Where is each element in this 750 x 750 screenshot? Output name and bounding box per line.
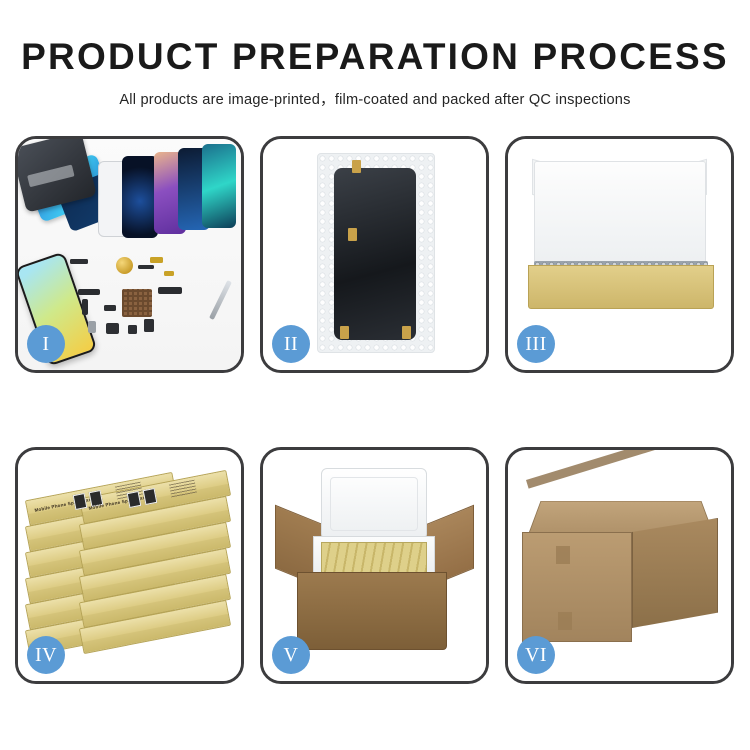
carton-tab [558, 612, 572, 630]
tape-tab [402, 326, 411, 339]
bubble-wrapped-screen-photo: II [263, 139, 486, 370]
speaker-part [106, 323, 119, 334]
bubble-wrap-bag [317, 153, 435, 353]
tape-tab [348, 228, 357, 241]
small-part [164, 271, 174, 276]
small-part [150, 257, 163, 263]
small-part [138, 265, 154, 269]
page-title: PRODUCT PREPARATION PROCESS [0, 38, 750, 77]
process-step-grid: I II I [15, 136, 735, 686]
screw-grid-mat [122, 289, 152, 317]
process-step-panel-5: V [260, 447, 489, 684]
small-part [104, 305, 116, 311]
small-part [144, 319, 154, 332]
gold-vibrator-part [116, 257, 133, 274]
product-preparation-infographic: PRODUCT PREPARATION PROCESS All products… [0, 0, 750, 750]
dark-display-1 [122, 156, 158, 238]
box-product-thumbnail [73, 493, 88, 510]
process-step-panel-2: II [260, 136, 489, 373]
step-badge-5: V [272, 636, 310, 674]
sealed-carton-photo: VI [508, 450, 731, 681]
carton-tab [556, 546, 570, 564]
step-badge-1: I [27, 325, 65, 363]
box-stack: Mobile Phone Spare Parts Mobile Phone Sp… [24, 464, 236, 664]
foam-box-lid [321, 468, 427, 540]
process-step-panel-3: III [505, 136, 734, 373]
box-product-thumbnail [143, 488, 158, 505]
tape-tab [340, 326, 349, 339]
wrapped-screen-unit [334, 168, 416, 340]
step-badge-3: III [517, 325, 555, 363]
screwdriver-icon [209, 280, 232, 320]
white-box-lid [534, 161, 706, 271]
carton-seam-tape [526, 450, 708, 489]
step-badge-6: VI [517, 636, 555, 674]
page-subtitle: All products are image-printed，film-coat… [0, 88, 750, 109]
step-badge-4: IV [27, 636, 65, 674]
small-part [128, 325, 137, 334]
carton-side-face [632, 518, 718, 628]
parts-spread-photo: I [18, 139, 241, 370]
box-product-thumbnail [127, 491, 142, 508]
flex-cable [82, 299, 88, 315]
carton-front-face [522, 532, 632, 642]
process-step-panel-1: I [15, 136, 244, 373]
stacked-boxes-photo: Mobile Phone Spare Parts Mobile Phone Sp… [18, 450, 241, 681]
teal-display [202, 144, 236, 228]
process-step-panel-4: Mobile Phone Spare Parts Mobile Phone Sp… [15, 447, 244, 684]
flex-cable [78, 289, 100, 295]
small-part [70, 259, 88, 264]
step-badge-2: II [272, 325, 310, 363]
carton-body [297, 572, 447, 650]
small-part [88, 321, 96, 333]
tape-tab [352, 160, 361, 173]
header: PRODUCT PREPARATION PROCESS All products… [0, 0, 750, 109]
open-box-photo: III [508, 139, 731, 370]
process-step-panel-6: VI [505, 447, 734, 684]
flex-cable [158, 287, 182, 294]
yellow-box-tray [528, 265, 714, 309]
carton-packing-photo: V [263, 450, 486, 681]
